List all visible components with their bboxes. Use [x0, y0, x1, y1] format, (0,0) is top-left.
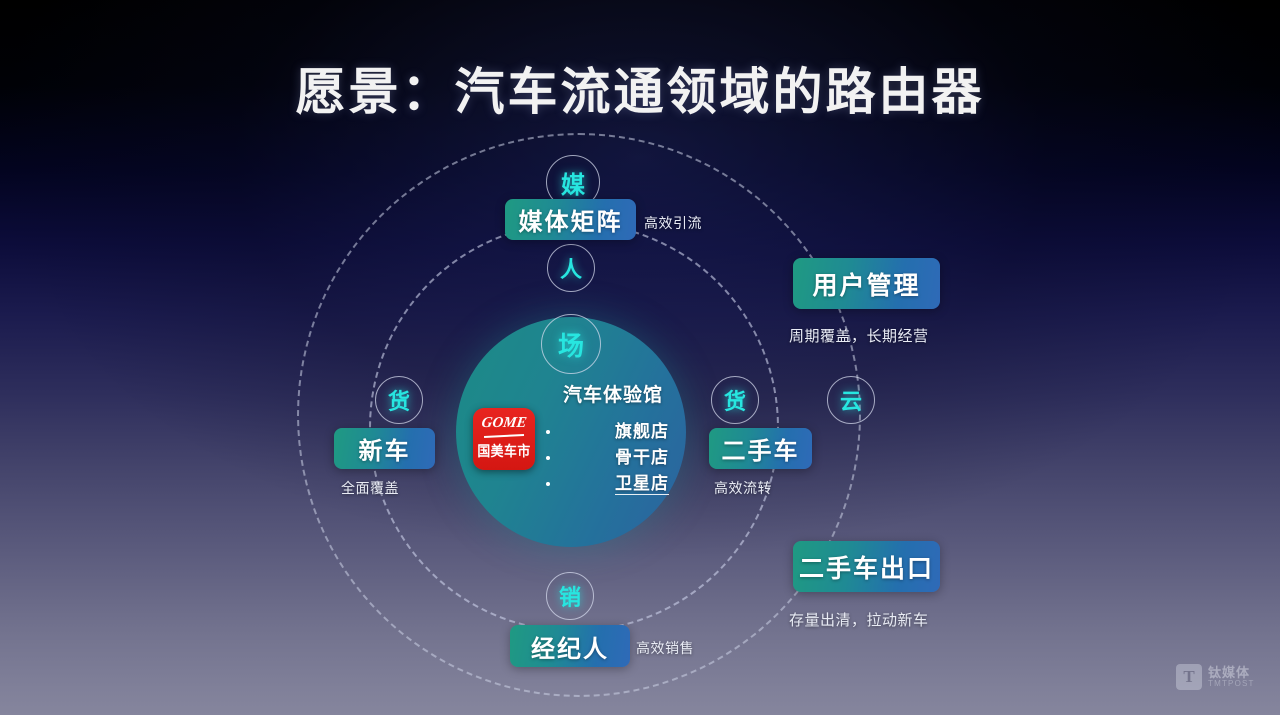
list-item: 骨干店	[543, 445, 683, 471]
pill-media-matrix: 媒体矩阵	[505, 199, 636, 240]
list-item: 卫星店	[543, 471, 683, 497]
watermark-text: 钛媒体 TMTPOST	[1208, 666, 1255, 688]
caption-new-car: 全面覆盖	[341, 478, 399, 498]
list-item: 旗舰店	[543, 419, 683, 445]
node-xiao: 销	[546, 572, 594, 620]
caption-broker: 高效销售	[636, 638, 694, 658]
core-content: 汽车体验馆 旗舰店 骨干店 卫星店	[543, 380, 683, 497]
core-item-label: 旗舰店	[615, 422, 669, 441]
watermark-name-en: TMTPOST	[1208, 680, 1255, 688]
node-yun: 云	[827, 376, 875, 424]
pill-user-management: 用户管理	[793, 258, 940, 309]
gome-logo: GOME 国美车市	[473, 408, 535, 470]
watermark: T 钛媒体 TMTPOST	[1176, 664, 1255, 690]
node-huo-left: 货	[375, 376, 423, 424]
core-item-label: 卫星店	[615, 474, 669, 495]
node-ren: 人	[547, 244, 595, 292]
core-item-label: 骨干店	[615, 448, 669, 467]
caption-used-car-export: 存量出清，拉动新车	[789, 609, 929, 630]
pill-used-car: 二手车	[709, 428, 812, 469]
core-heading: 汽车体验馆	[543, 380, 683, 407]
logo-name: 国美车市	[475, 441, 532, 461]
slide-canvas: 愿景：汽车流通领域的路由器 汽车体验馆 旗舰店 骨干店 卫星店 GOME 国美车…	[0, 0, 1280, 715]
pill-broker: 经纪人	[510, 625, 630, 667]
pill-used-car-export: 二手车出口	[793, 541, 940, 592]
node-huo-right: 货	[711, 376, 759, 424]
caption-used-car: 高效流转	[714, 478, 772, 498]
tmtpost-logo-icon: T	[1176, 664, 1202, 690]
pill-new-car: 新车	[334, 428, 435, 469]
page-title: 愿景：汽车流通领域的路由器	[0, 52, 1280, 124]
node-chang: 场	[541, 314, 601, 374]
core-store-list: 旗舰店 骨干店 卫星店	[543, 419, 683, 497]
caption-media-matrix: 高效引流	[644, 213, 702, 233]
watermark-name-cn: 钛媒体	[1208, 666, 1255, 680]
logo-underline-rule	[484, 434, 524, 438]
caption-user-management: 周期覆盖，长期经营	[789, 325, 929, 346]
logo-wordmark: GOME	[473, 415, 535, 432]
